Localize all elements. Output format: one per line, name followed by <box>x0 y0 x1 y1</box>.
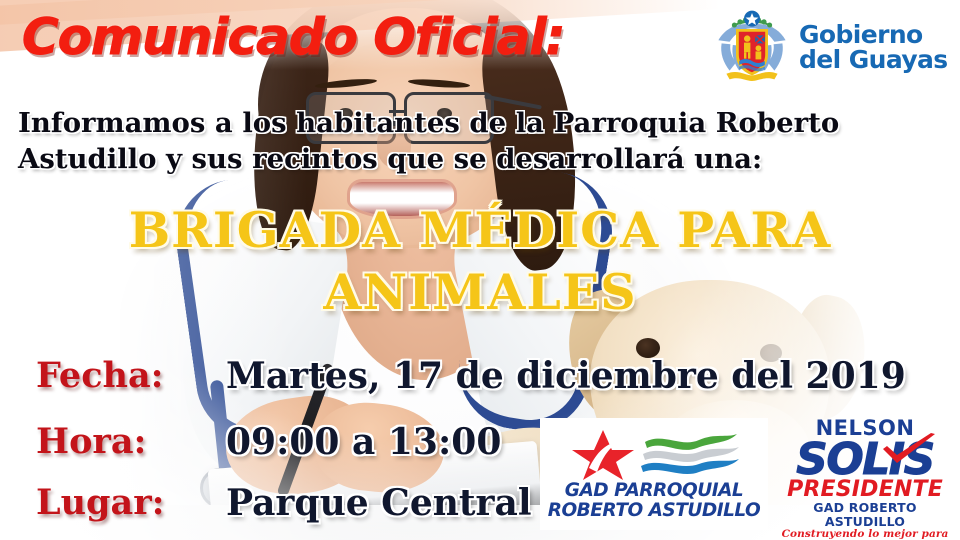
solis-last-name-wrap: SOLIS <box>775 439 955 481</box>
detail-value-hora: 09:00 a 13:00 <box>226 421 501 463</box>
gobierno-del-guayas-logo: Gobierno del Guayas <box>712 6 954 88</box>
body-text-line-2: Astudillo y sus recintos que se desarrol… <box>18 143 762 175</box>
detail-value-fecha: Martes, 17 de diciembre del 2019 <box>226 355 906 397</box>
detail-label-fecha: Fecha: <box>36 355 164 396</box>
guayas-wordmark-line-2: del Guayas <box>799 45 948 74</box>
solis-org: GAD ROBERTO ASTUDILLO <box>775 501 955 529</box>
gad-parroquial-logo-card: GAD PARROQUIAL ROBERTO ASTUDILLO <box>540 418 768 530</box>
body-text-line-1: Informamos a los habitantes de la Parroq… <box>18 107 839 139</box>
poster-canvas: Comunicado Oficial: Informamos a los hab… <box>0 0 960 540</box>
gad-wordmark-line-1: GAD PARROQUIAL <box>565 480 743 501</box>
gad-star-waves-icon <box>559 428 749 480</box>
gad-wordmark-line-2: ROBERTO ASTUDILLO <box>548 500 761 521</box>
solis-tagline: Construyendo lo mejor para todos... <box>775 529 955 540</box>
guayas-wordmark: Gobierno del Guayas <box>799 22 948 73</box>
poster-title: Comunicado Oficial: <box>22 8 564 66</box>
headline-line-1: BRIGADA MÉDICA PARA <box>0 201 960 259</box>
detail-value-lugar: Parque Central <box>226 482 532 524</box>
nelson-solis-logo: NELSON SOLIS PRESIDENTE GAD ROBERTO ASTU… <box>775 418 955 528</box>
red-check-icon <box>879 433 939 467</box>
detail-label-hora: Hora: <box>36 421 146 462</box>
guayas-coat-of-arms-icon <box>712 5 792 90</box>
content-layer: Comunicado Oficial: Informamos a los hab… <box>0 0 960 540</box>
headline-line-2: ANIMALES <box>0 263 960 321</box>
gad-wordmark: GAD PARROQUIAL ROBERTO ASTUDILLO <box>548 481 761 519</box>
detail-label-lugar: Lugar: <box>36 482 165 523</box>
